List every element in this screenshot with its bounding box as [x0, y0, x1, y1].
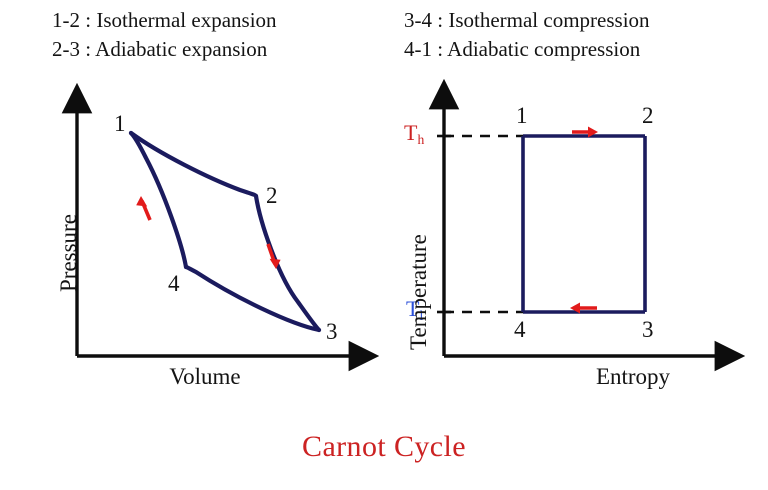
arrow-4-to-1-icon: [136, 196, 150, 220]
ts-label-t-hot: Th: [404, 122, 424, 144]
legend-left-column: 1-2 : Isothermal expansion 2-3 : Adiabat…: [52, 6, 277, 64]
temperature-entropy-diagram: 1 2 3 4 Th Tl Entropy Temperature: [392, 92, 752, 392]
pressure-volume-diagram: 1 2 3 4 Volume Pressure: [40, 92, 380, 392]
ts-point-label-2: 2: [642, 104, 654, 127]
ts-plot-canvas: [392, 92, 752, 392]
legend-item-1-2: 1-2 : Isothermal expansion: [52, 6, 277, 35]
carnot-cycle-figure: 1-2 : Isothermal expansion 2-3 : Adiabat…: [0, 0, 768, 490]
figure-title: Carnot Cycle: [0, 430, 768, 464]
pv-x-axis-label: Volume: [40, 364, 370, 390]
legend-item-4-1: 4-1 : Adiabatic compression: [404, 35, 650, 64]
pv-point-label-2: 2: [266, 184, 278, 207]
legend-right-column: 3-4 : Isothermal compression 4-1 : Adiab…: [404, 6, 650, 64]
ts-point-label-4: 4: [514, 318, 526, 341]
pv-plot-canvas: [40, 92, 380, 392]
pv-point-label-3: 3: [326, 320, 338, 343]
ts-label-t-hot-symbol: T: [404, 120, 417, 145]
ts-y-axis-label: Temperature: [406, 234, 432, 350]
pv-point-label-4: 4: [168, 272, 180, 295]
ts-x-axis-label: Entropy: [488, 364, 768, 390]
pv-point-label-1: 1: [114, 112, 126, 135]
legend-item-2-3: 2-3 : Adiabatic expansion: [52, 35, 277, 64]
ts-label-t-hot-subscript: h: [417, 132, 424, 147]
legend-item-3-4: 3-4 : Isothermal compression: [404, 6, 650, 35]
ts-point-label-3: 3: [642, 318, 654, 341]
pv-y-axis-label: Pressure: [56, 214, 82, 292]
pv-curve-3-4-isothermal-compression: [186, 267, 319, 330]
ts-point-label-1: 1: [516, 104, 528, 127]
